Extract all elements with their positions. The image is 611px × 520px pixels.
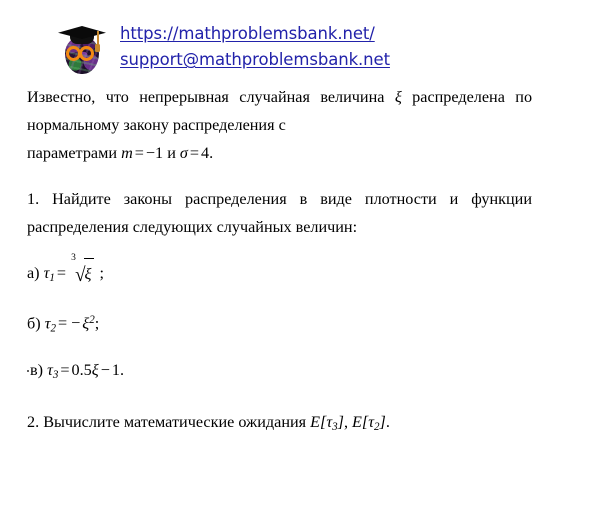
item-c-constant: 1	[112, 361, 120, 379]
item-c-coefficient: 0.5	[72, 361, 92, 379]
task-2-terminator: .	[386, 413, 390, 431]
intro-word-1: Известно,	[27, 88, 95, 106]
problem-content: Известно, что непрерывная случайная вели…	[0, 70, 558, 441]
item-b-negative-xi-squared: б) τ2=−ξ2;	[27, 306, 532, 342]
item-a-radical: 3√ξ	[71, 260, 94, 290]
item-b-equals: =	[56, 314, 69, 332]
conjunction-and: и	[167, 144, 176, 162]
item-a-label: а)	[27, 264, 40, 282]
item-a-radicand: ξ	[84, 258, 95, 288]
param-m-value: −1	[146, 144, 163, 162]
item-c-terminator: .	[120, 361, 124, 379]
support-email-link[interactable]: support@mathproblemsbank.net	[120, 47, 390, 73]
item-c-equals: =	[58, 361, 71, 379]
intro-paragraph: Известно, что непрерывная случайная вели…	[27, 83, 532, 139]
expectation-1-open: E[	[310, 413, 326, 431]
item-b-terminator: ;	[95, 314, 100, 332]
expectation-separator: ,	[344, 413, 348, 431]
item-a-equals: =	[55, 264, 68, 282]
intro-word-4: случайная	[239, 88, 310, 106]
infinity-icon	[66, 45, 98, 61]
item-c-linear-transform: в) τ3=0.5ξ−1.	[27, 356, 532, 389]
task-2-text: Вычислите математические ожидания	[43, 413, 306, 431]
task-2-paragraph: 2. Вычислите математические ожидания E[τ…	[27, 408, 532, 441]
item-a-cube-root-xi: а) τ1=3√ξ ;	[27, 259, 532, 292]
intro-word-2: что	[106, 88, 129, 106]
param-sigma-equals: =	[188, 144, 201, 162]
intro-word-5: величина	[320, 88, 384, 106]
graduation-cap-tassel-knot-icon	[95, 44, 100, 52]
mathproblemsbank-logo	[60, 18, 104, 80]
param-sigma-value: 4	[201, 144, 209, 162]
item-b-negative-sign: −	[69, 314, 82, 332]
bullet-artifact-icon	[27, 370, 29, 372]
task-2-number: 2.	[27, 413, 39, 431]
task-1-number: 1.	[27, 190, 39, 208]
item-c-operator: −	[99, 361, 112, 379]
param-m-equals: =	[133, 144, 146, 162]
expectation-2-open: E[	[352, 413, 368, 431]
infinity-right-loop	[79, 46, 94, 61]
contact-links: https://mathproblemsbank.net/ support@ma…	[120, 18, 390, 73]
site-url-link[interactable]: https://mathproblemsbank.net/	[120, 21, 390, 47]
task-1-paragraph: 1. Найдите законы распределения в виде п…	[27, 185, 532, 241]
intro-period: .	[209, 144, 213, 162]
intro-word-3: непрерывная	[139, 88, 229, 106]
item-a-terminator: ;	[99, 264, 104, 282]
item-c-base: ξ	[92, 361, 99, 379]
item-c-label: в)	[30, 361, 43, 379]
param-sigma-symbol: σ	[180, 144, 188, 162]
item-b-label: б)	[27, 314, 41, 332]
random-variable-xi: ξ	[395, 88, 402, 106]
task-1-text: Найдите законы распределения в виде плот…	[27, 190, 532, 236]
param-m-symbol: m	[121, 144, 133, 162]
intro-parameters-line: параметрами m=−1 и σ=4.	[27, 139, 532, 167]
parameters-label: параметрами	[27, 144, 117, 162]
page-header: https://mathproblemsbank.net/ support@ma…	[0, 0, 611, 70]
